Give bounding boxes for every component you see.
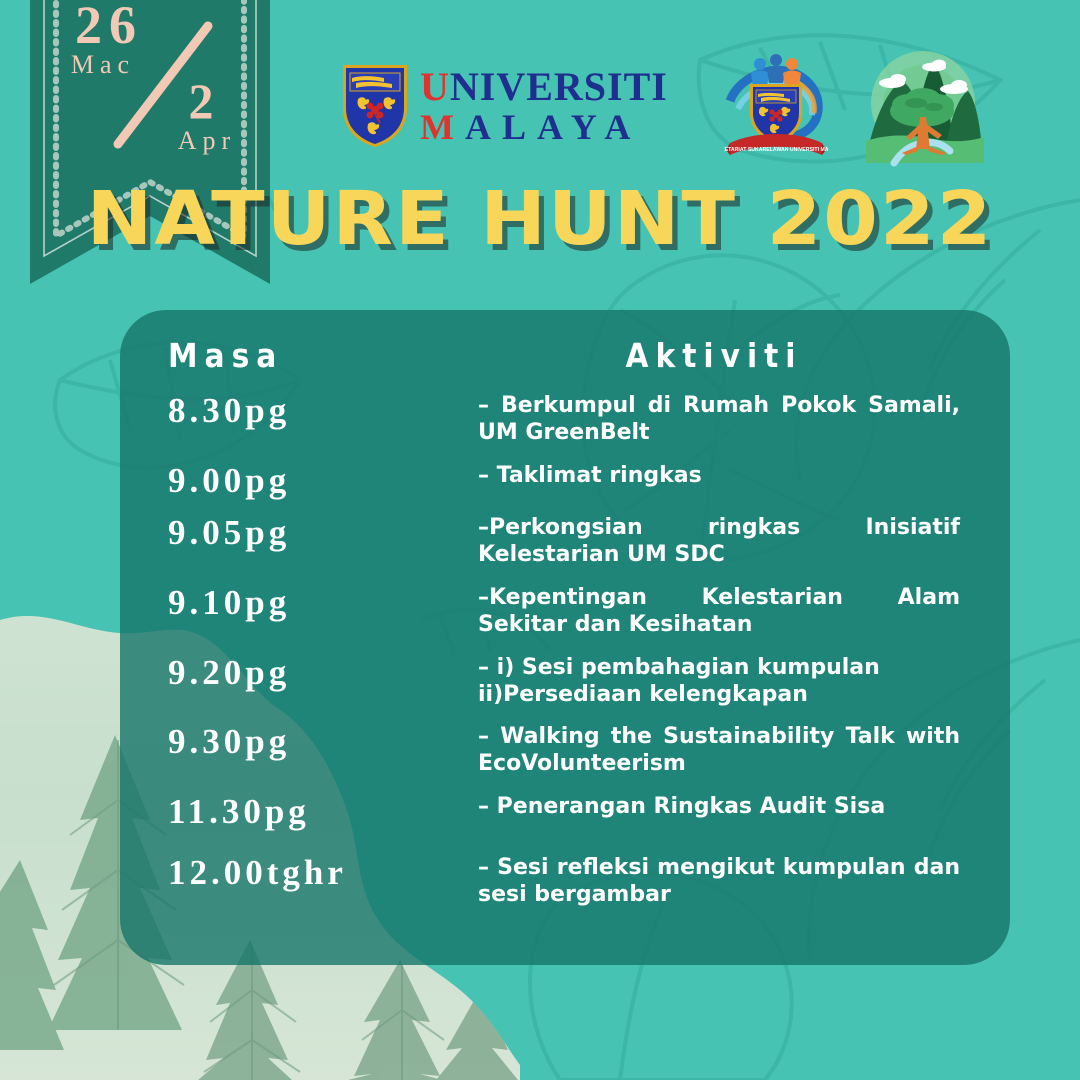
row-activity: – i) Sesi pembahagian kumpulan ii)Persed…: [478, 655, 980, 709]
schedule-panel: Masa Aktiviti 8.30pg – Berkumpul di Ruma…: [120, 310, 1010, 965]
universiti-malaya-logo: UNIVERSITI MALAYA: [340, 62, 668, 150]
row-activity: – Sesi refleksi mengikut kumpulan dan se…: [478, 855, 980, 909]
logo-row: UNIVERSITI MALAYA: [340, 36, 990, 176]
column-header-activity: Aktiviti: [478, 336, 980, 375]
um-logo-line2: MALAYA: [420, 109, 668, 145]
row-activity-line2: ii)Persediaan kelengkapan: [478, 682, 960, 709]
row-time: 8.30pg: [168, 393, 478, 430]
um-logo-line1: UNIVERSITI: [420, 67, 668, 107]
um-shield-icon: [340, 62, 410, 150]
schedule-table: Masa Aktiviti 8.30pg – Berkumpul di Ruma…: [120, 310, 1010, 908]
row-time: 11.30pg: [168, 794, 478, 831]
column-header-time: Masa: [168, 336, 478, 375]
schedule-header-row: Masa Aktiviti: [168, 336, 980, 375]
nature-forest-logo: [858, 41, 988, 171]
table-row: 9.00pg – Taklimat ringkas: [168, 463, 980, 500]
table-row: 8.30pg – Berkumpul di Rumah Pokok Samali…: [168, 393, 980, 447]
row-activity: –Perkongsian ringkas Inisiatif Kelestari…: [478, 515, 980, 569]
row-activity: – Walking the Sustainability Talk with E…: [478, 724, 980, 778]
page-title: NATURE HUNT 2022: [0, 176, 1080, 262]
row-activity: – Taklimat ringkas: [478, 463, 980, 490]
row-time: 9.00pg: [168, 463, 478, 500]
table-row: 9.30pg – Walking the Sustainability Talk…: [168, 724, 980, 778]
table-row: 11.30pg – Penerangan Ringkas Audit Sisa: [168, 794, 980, 831]
row-time: 9.20pg: [168, 655, 478, 692]
row-activity-line1: – i) Sesi pembahagian kumpulan: [478, 655, 880, 680]
date-end-month: Apr: [152, 126, 262, 156]
row-activity: –Kepentingan Kelestarian Alam Sekitar da…: [478, 585, 980, 639]
table-row: 9.05pg –Perkongsian ringkas Inisiatif Ke…: [168, 515, 980, 569]
volunteer-ribbon-text: SEKRETARIAT SUKARELAWAN UNIVERSITI MALAY…: [724, 147, 828, 153]
row-time: 9.05pg: [168, 515, 478, 552]
table-row: 9.20pg – i) Sesi pembahagian kumpulan ii…: [168, 655, 980, 709]
date-end-day: 2: [148, 72, 258, 130]
sekretariat-sukarelawan-logo: SEKRETARIAT SUKARELAWAN UNIVERSITI MALAY…: [724, 51, 828, 161]
table-row: 9.10pg –Kepentingan Kelestarian Alam Sek…: [168, 585, 980, 639]
table-row: 12.00tghr – Sesi refleksi mengikut kumpu…: [168, 855, 980, 909]
row-time: 9.10pg: [168, 585, 478, 622]
row-time: 9.30pg: [168, 724, 478, 761]
row-activity: – Berkumpul di Rumah Pokok Samali, UM Gr…: [478, 393, 980, 447]
row-time: 12.00tghr: [168, 855, 478, 892]
row-activity: – Penerangan Ringkas Audit Sisa: [478, 794, 980, 821]
